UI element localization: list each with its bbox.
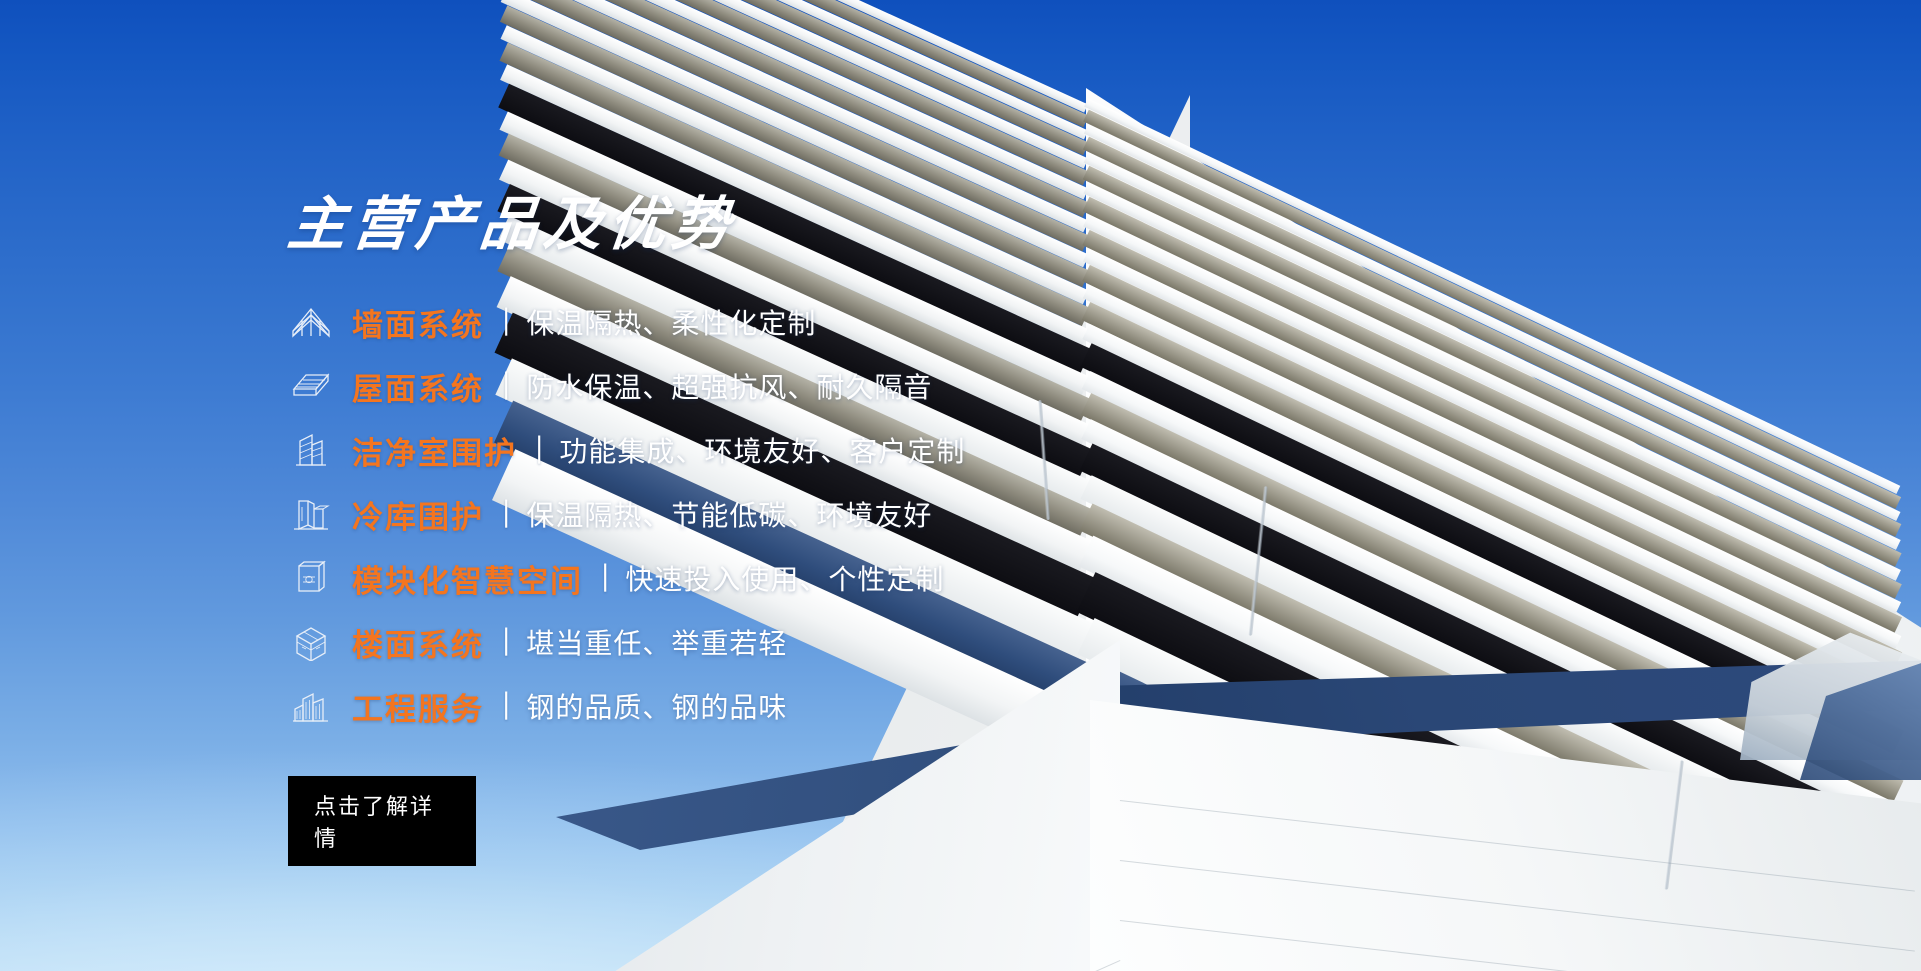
list-item-title: 墙面系统 [352, 300, 484, 345]
list-item-description: 堪当重任、举重若轻 [526, 622, 787, 662]
hero-content: 主营产品及优势 墙面系统 | 保温隔热、柔性化定制 [288, 196, 1348, 866]
list-item[interactable]: 墙面系统 | 保温隔热、柔性化定制 [288, 298, 1348, 346]
engineering-service-icon [288, 685, 334, 727]
list-item-separator: | [537, 433, 542, 463]
list-item-separator: | [504, 369, 509, 399]
list-item[interactable]: 洁净室围护 | 功能集成、环境友好、客户定制 [288, 426, 1348, 474]
list-item[interactable]: 屋面系统 | 防水保温、超强抗风、耐久隔音 [288, 362, 1348, 410]
list-item-title: 模块化智慧空间 [352, 556, 583, 601]
list-item-title: 工程服务 [352, 684, 484, 729]
list-item-description: 钢的品质、钢的品味 [526, 686, 787, 726]
list-item-separator: | [603, 561, 608, 591]
list-item-description: 功能集成、环境友好、客户定制 [559, 430, 965, 470]
cold-storage-enclosure-icon [288, 493, 334, 535]
product-list: 墙面系统 | 保温隔热、柔性化定制 屋面系统 | [288, 298, 1348, 730]
list-item-description: 保温隔热、节能低碳、环境友好 [526, 494, 932, 534]
list-item[interactable]: 冷库围护 | 保温隔热、节能低碳、环境友好 [288, 490, 1348, 538]
roof-system-icon [288, 365, 334, 407]
list-item-separator: | [504, 497, 509, 527]
learn-more-button[interactable]: 点击了解详情 [288, 776, 476, 866]
floor-system-icon [288, 621, 334, 663]
list-item[interactable]: 模块化智慧空间 | 快速投入使用、个性定制 [288, 554, 1348, 602]
list-item-separator: | [504, 689, 509, 719]
list-item-separator: | [504, 305, 509, 335]
list-item-title: 冷库围护 [352, 492, 484, 537]
list-item-description: 快速投入使用、个性定制 [625, 558, 944, 598]
list-item[interactable]: 工程服务 | 钢的品质、钢的品味 [288, 682, 1348, 730]
modular-smart-space-icon [288, 557, 334, 599]
list-item-description: 防水保温、超强抗风、耐久隔音 [526, 366, 932, 406]
list-item[interactable]: 楼面系统 | 堪当重任、举重若轻 [288, 618, 1348, 666]
list-item-title: 屋面系统 [352, 364, 484, 409]
list-item-title: 洁净室围护 [352, 428, 517, 473]
cleanroom-enclosure-icon [288, 429, 334, 471]
page-title: 主营产品及优势 [285, 196, 1351, 254]
hero-banner: 主营产品及优势 墙面系统 | 保温隔热、柔性化定制 [0, 0, 1921, 971]
list-item-title: 楼面系统 [352, 620, 484, 665]
list-item-description: 保温隔热、柔性化定制 [526, 302, 816, 342]
list-item-separator: | [504, 625, 509, 655]
wall-system-icon [288, 301, 334, 343]
